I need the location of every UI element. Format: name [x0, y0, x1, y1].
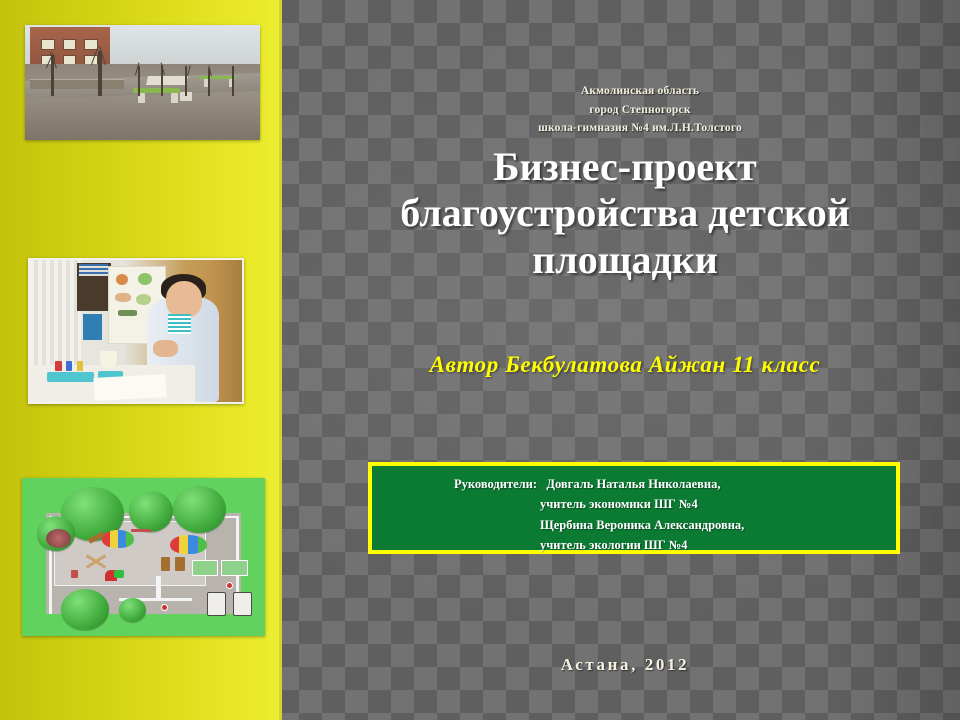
title-line-2: благоустройства детской — [300, 190, 950, 236]
presentation-title-slide: Акмолинская область город Степногорск шк… — [0, 0, 960, 720]
mentor-2-name: Щербина Вероника Александровна, — [372, 515, 896, 535]
org-city: город Степногорск — [340, 101, 940, 120]
photo-schoolyard-before — [25, 25, 260, 140]
photo-playground-site-plan — [22, 478, 265, 636]
org-region: Акмолинская область — [340, 82, 940, 101]
mentor-1-name: Довгаль Наталья Николаевна, — [546, 477, 720, 491]
title-line-3: площадки — [300, 237, 950, 283]
mentors-label: Руководители: — [454, 477, 537, 491]
page-title: Бизнес-проект благоустройства детской пл… — [300, 144, 950, 283]
place-and-year: Астана, 2012 — [300, 655, 950, 675]
organization-header: Акмолинская область город Степногорск шк… — [340, 82, 940, 138]
org-school: школа-гимназия №4 им.Л.Н.Толстого — [340, 119, 940, 138]
author-line: Автор Бекбулатова Айжан 11 класс — [300, 352, 950, 378]
title-line-1: Бизнес-проект — [300, 144, 950, 190]
mentor-1-role: учитель экономики ШГ №4 — [372, 494, 896, 514]
mentor-2-role: учитель экологии ШГ №4 — [372, 535, 896, 555]
photo-author-in-classroom — [28, 258, 244, 404]
mentors-first-row: Руководители: Довгаль Наталья Николаевна… — [372, 474, 896, 494]
mentors-box: Руководители: Довгаль Наталья Николаевна… — [368, 462, 900, 554]
